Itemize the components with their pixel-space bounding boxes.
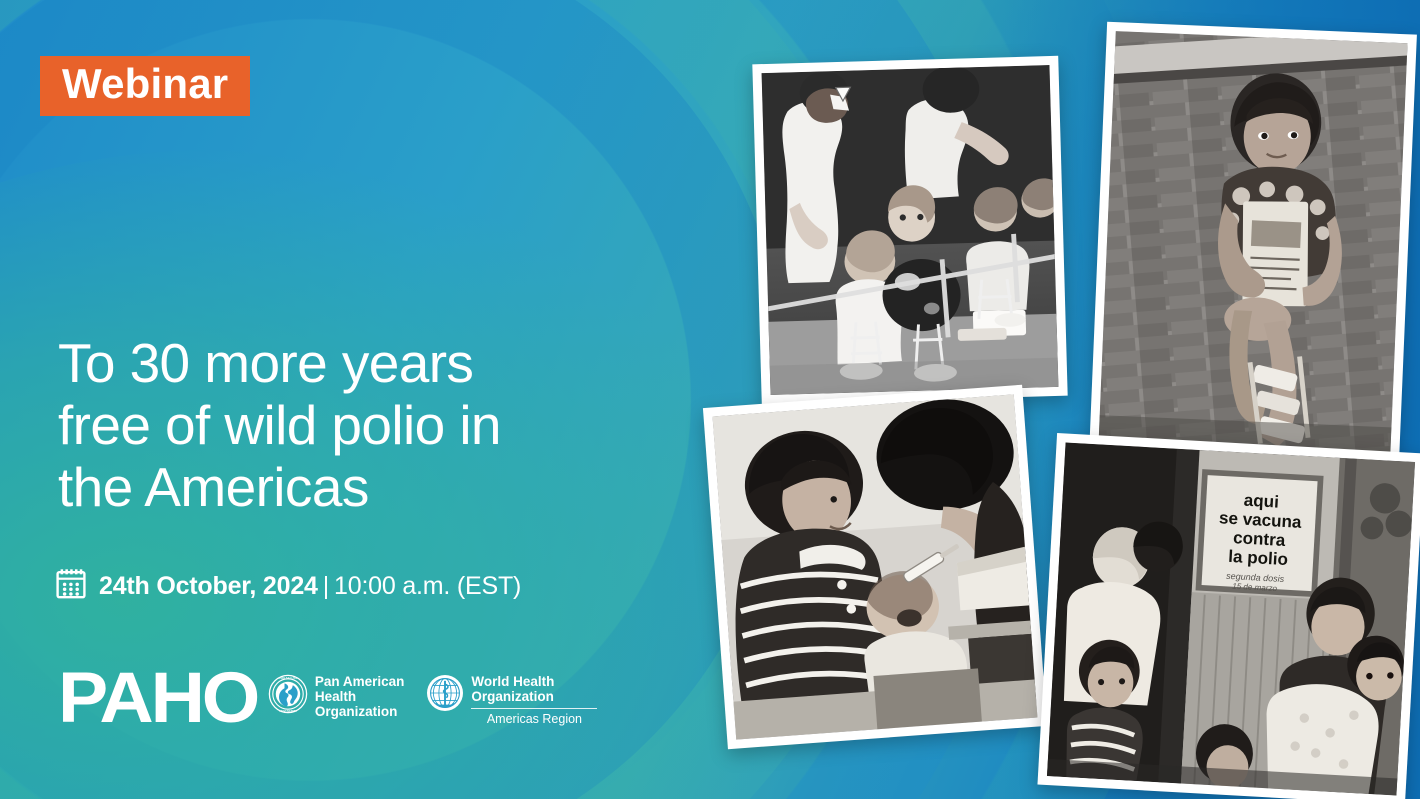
photo-child-receiving-oral-vaccine-image: [713, 394, 1038, 739]
poster-line-1: aqui: [1243, 491, 1279, 512]
photo-girl-leg-brace-brick-wall-image: [1098, 31, 1407, 457]
photo-vaccination-queue-poster-image: aqui se vacuna contra la polio segunda d…: [1047, 442, 1415, 795]
photo-vaccination-queue-poster: aqui se vacuna contra la polio segunda d…: [1037, 433, 1420, 799]
photo-child-receiving-oral-vaccine: [703, 385, 1047, 750]
poster-line-4: la polio: [1228, 547, 1289, 569]
webinar-banner: Webinar To 30 more years free of wild po…: [0, 0, 1420, 799]
photo-rehab-children-braces-image: [762, 65, 1059, 395]
photo-rehab-children-braces: [752, 56, 1067, 404]
photo-collage: aqui se vacuna contra la polio segunda d…: [0, 0, 1420, 799]
photo-girl-leg-brace-brick-wall: [1089, 22, 1417, 467]
